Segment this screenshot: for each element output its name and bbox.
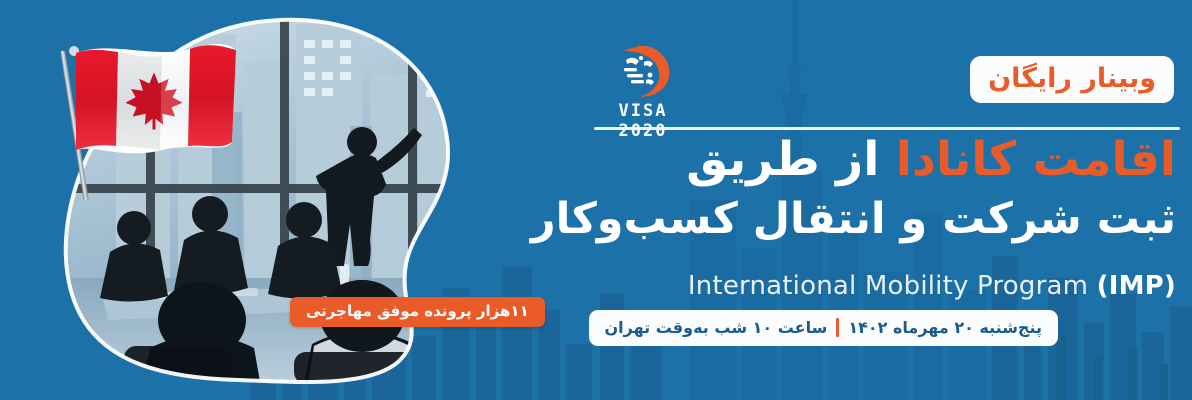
free-webinar-badge: وبینار رایگان	[970, 56, 1174, 103]
program-name: International Mobility Program	[688, 271, 1088, 301]
schedule-date: پنج‌شنبه ۲۰ مهرماه ۱۴۰۲	[848, 320, 1042, 336]
stat-badge: ۱۱هزار پرونده موفق مهاجرتی	[290, 297, 545, 327]
headline-rest: از طریق	[686, 132, 879, 187]
headline-line-2: ثبت شرکت و انتقال کسب‌وکار	[586, 198, 1176, 241]
schedule-time: ساعت ۱۰ شب به‌وقت تهران	[605, 320, 828, 336]
swoosh-crescent-calligraphy-icon	[608, 44, 678, 100]
program-subtitle: International Mobility Program (IMP)	[586, 271, 1176, 301]
headline-highlight: اقامت کانادا	[896, 132, 1176, 187]
business-meeting-photo	[62, 16, 542, 384]
schedule-separator	[836, 318, 839, 337]
webinar-banner: ۱۱هزار پرونده موفق مهاجرتی VISA 2020	[0, 0, 1192, 400]
schedule-badge: پنج‌شنبه ۲۰ مهرماه ۱۴۰۲ ساعت ۱۰ شب به‌وق…	[589, 310, 1059, 346]
content-column: VISA 2020 وبینار رایگان اقامت کانادا از …	[572, 0, 1192, 400]
headline-line-1: اقامت کانادا از طریق	[586, 136, 1176, 183]
divider-rule	[594, 127, 1180, 130]
brand-logo[interactable]: VISA 2020	[588, 44, 698, 128]
program-abbreviation: (IMP)	[1097, 271, 1176, 301]
logo-wordmark: VISA 2020	[588, 101, 698, 141]
